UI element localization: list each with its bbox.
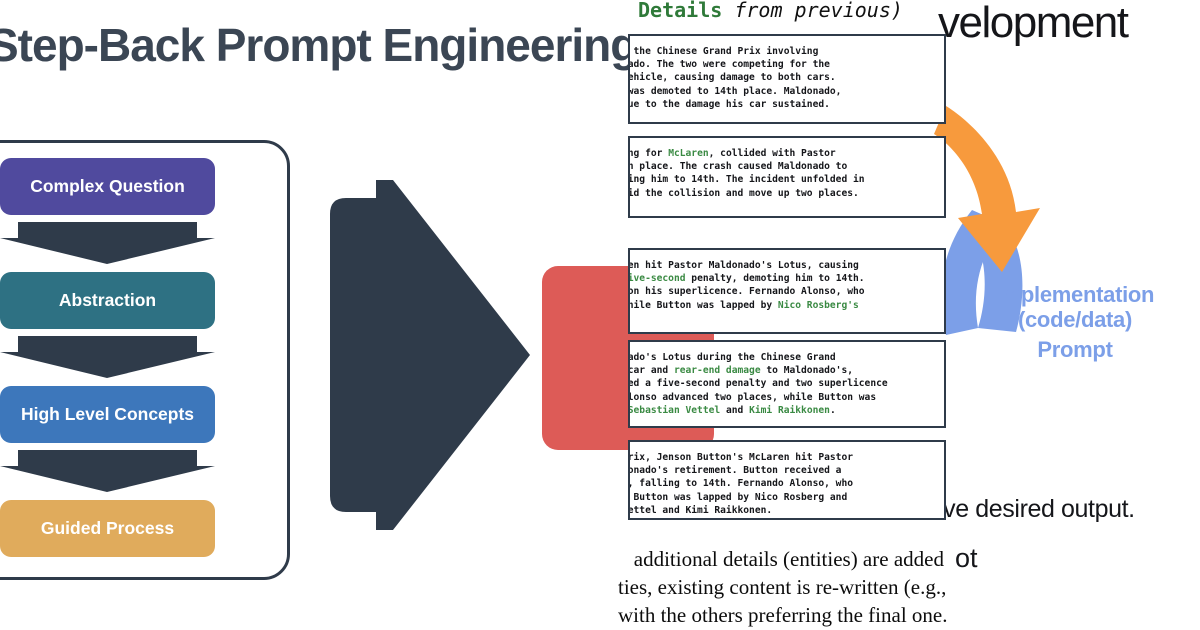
- details-heading: Details from previous): [638, 0, 903, 22]
- details-box-1[interactable]: ent occurred during the Chinese Grand Pr…: [628, 34, 946, 124]
- flow-step-label: Complex Question: [30, 176, 185, 197]
- flow-arrow-3: [0, 450, 215, 492]
- details-box-3[interactable]: nson Button's McLaren hit Pastor Maldona…: [628, 248, 946, 334]
- flow-step-label: High Level Concepts: [21, 404, 194, 425]
- cycle-label-line3: Prompt: [950, 337, 1200, 362]
- serif-caption-line1: additional details (entities) are added: [618, 547, 944, 571]
- serif-caption-line3: with the others preferring the final one…: [618, 603, 947, 627]
- flow-step-high-level-concepts[interactable]: High Level Concepts: [0, 386, 215, 443]
- details-box-text: enson Button, driving for McLaren, colli…: [628, 147, 865, 200]
- cycle-label-line1: Implementation: [996, 282, 1154, 307]
- step-back-flow-steps: Complex Question Abstraction High Level …: [0, 140, 290, 580]
- details-heading-note: from previous): [722, 0, 903, 22]
- details-box-4[interactable]: n hit Pastor Maldonado's Lotus during th…: [628, 340, 946, 428]
- right-caption-line1: ive desired output.: [938, 495, 1135, 524]
- cycle-label: Implementation (code/data) Prompt: [950, 282, 1200, 362]
- page-title: Step-Back Prompt Engineering: [0, 18, 637, 72]
- flow-step-abstraction[interactable]: Abstraction: [0, 272, 215, 329]
- flow-step-label: Guided Process: [41, 518, 174, 539]
- right-caption-line2: ot: [955, 543, 978, 574]
- bottom-serif-caption: additional details (entities) are added …: [618, 545, 947, 629]
- screenshot-canvas: Step-Back Prompt Engineering velopment C…: [0, 0, 1200, 630]
- details-box-text: n hit Pastor Maldonado's Lotus during th…: [628, 351, 888, 417]
- details-box-5[interactable]: the Chinese Grand Prix, Jenson Button's …: [628, 440, 946, 520]
- page-title-right-fragment: velopment: [938, 0, 1128, 48]
- flow-step-label: Abstraction: [59, 290, 156, 311]
- cycle-label-line2: (code/data): [950, 307, 1200, 332]
- serif-caption-line2: ties, existing content is re-written (e.…: [618, 575, 946, 599]
- details-box-2[interactable]: enson Button, driving for McLaren, colli…: [628, 136, 946, 218]
- details-document-panel: Details from previous) ent occurred duri…: [628, 0, 946, 538]
- flow-step-guided-process[interactable]: Guided Process: [0, 500, 215, 557]
- flow-step-complex-question[interactable]: Complex Question: [0, 158, 215, 215]
- details-box-text: nson Button's McLaren hit Pastor Maldona…: [628, 259, 865, 325]
- flow-arrow-2: [0, 336, 215, 378]
- details-box-text: ent occurred during the Chinese Grand Pr…: [628, 45, 841, 111]
- flow-arrow-1: [0, 222, 215, 264]
- big-right-chevron-arrow: [330, 180, 530, 530]
- details-heading-keyword: Details: [638, 0, 722, 22]
- details-box-text: the Chinese Grand Prix, Jenson Button's …: [628, 451, 853, 517]
